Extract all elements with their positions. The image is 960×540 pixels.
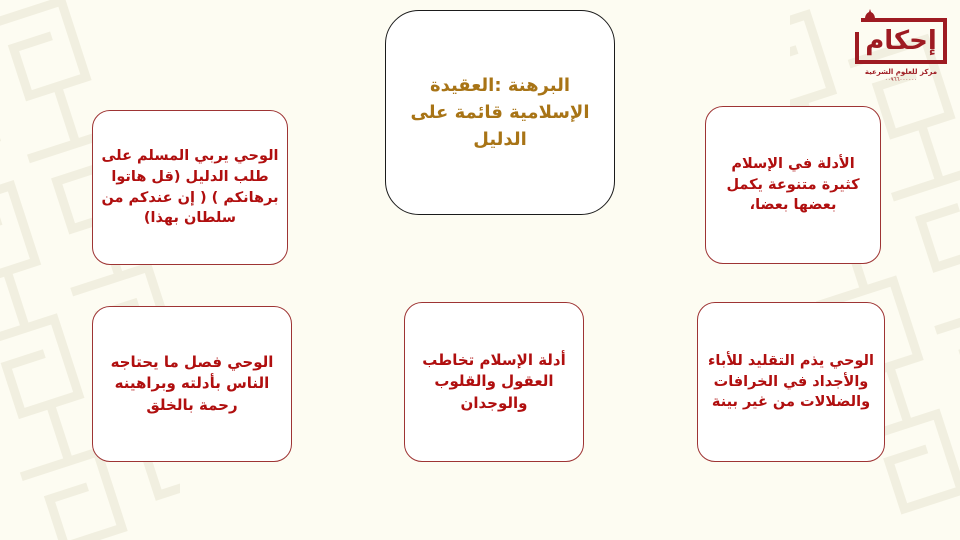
statement-box-wahy-daleel: الوحي يربي المسلم على طلب الدليل (قل هات… [92,110,288,265]
slide-canvas: البرهنة :العقيدة الإسلامية قائمة على الد… [0,0,960,540]
statement-box-tukhatib: أدلة الإسلام تخاطب العقول والقلوب والوجد… [404,302,584,462]
logo-subtitle: مركز للعلوم الشرعية [851,68,951,77]
logo-bar-right-icon [943,18,947,64]
statement-text: الوحي يذم التقليد للأباء والأجداد في الخ… [706,351,876,413]
central-title-box: البرهنة :العقيدة الإسلامية قائمة على الد… [385,10,615,215]
statement-text: الوحي فصل ما يحتاجه الناس بأدلته وبراهين… [101,352,283,416]
brand-logo: إحكام مركز للعلوم الشرعية ٠٠٩٦٦٠٠٠٠٠٠ [851,18,951,90]
statement-box-wahy-taqleed: الوحي يذم التقليد للأباء والأجداد في الخ… [697,302,885,462]
logo-wordmark: إحكام [863,23,939,59]
logo-bar-bottom-icon [859,60,943,64]
statement-text: الأدلة في الإسلام كثيرة متنوعة يكمل بعضه… [714,154,872,216]
logo-bar-left-icon [855,32,859,64]
logo-frame: إحكام [855,18,947,64]
central-title-text: البرهنة :العقيدة الإسلامية قائمة على الد… [400,72,600,153]
mosque-dome-icon [862,9,878,23]
statement-box-adilla-kathira: الأدلة في الإسلام كثيرة متنوعة يكمل بعضه… [705,106,881,264]
statement-text: أدلة الإسلام تخاطب العقول والقلوب والوجد… [413,350,575,414]
statement-text: الوحي يربي المسلم على طلب الدليل (قل هات… [101,146,279,228]
statement-box-wahy-fassal: الوحي فصل ما يحتاجه الناس بأدلته وبراهين… [92,306,292,462]
logo-phone: ٠٠٩٦٦٠٠٠٠٠٠ [851,77,951,84]
